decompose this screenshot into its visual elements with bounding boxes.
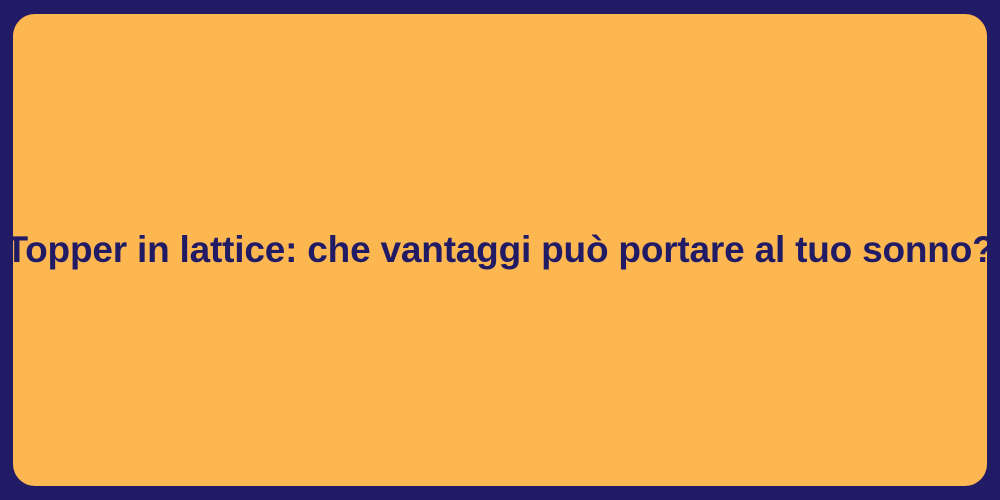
article-banner: Topper in lattice: che vantaggi può port… bbox=[0, 0, 1000, 500]
banner-panel: Topper in lattice: che vantaggi può port… bbox=[13, 14, 987, 486]
banner-headline: Topper in lattice: che vantaggi può port… bbox=[13, 227, 987, 273]
